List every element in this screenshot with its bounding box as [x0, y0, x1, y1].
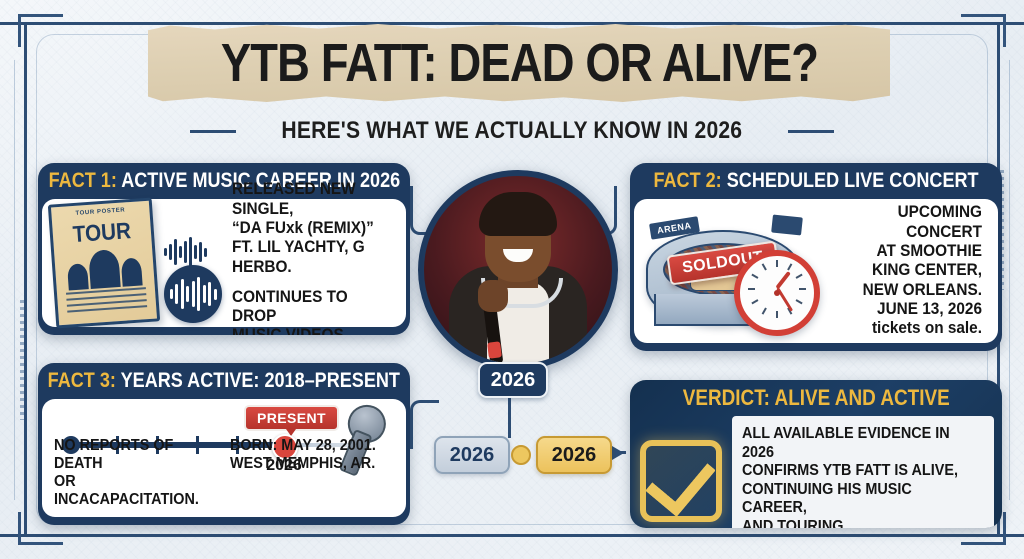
career-timeline: PRESENT 2026	[54, 405, 394, 435]
fact1-text: RELEASED NEW SINGLE, “DA FUxk (REMIX)” F…	[232, 180, 385, 335]
fact2-card: FACT 2: SCHEDULED LIVE CONCERT ARENA SOL…	[630, 163, 1002, 351]
verdict-text: ALL AVAILABLE EVIDENCE IN 2026 CONFIRMS …	[742, 425, 967, 528]
connector-gold-dot-icon	[511, 445, 531, 465]
fact2-artwork: ARENA SOLDOUT	[644, 204, 816, 338]
verdict-header: VERDICT: ALIVE AND ACTIVE	[630, 380, 1002, 416]
verdict-body: ALL AVAILABLE EVIDENCE IN 2026 CONFIRMS …	[630, 416, 1002, 528]
poster-crowd	[62, 245, 147, 291]
frame-bottom-line	[0, 534, 1024, 537]
fact1-body: TOUR POSTER TOUR RELEASED NEW SIN	[42, 199, 406, 327]
left-edge-dots	[20, 300, 24, 420]
verdict-line2: CONFIRMS YTB FATT IS ALIVE,	[742, 462, 967, 481]
fact1-line4: CONTINUES TO DROP	[232, 288, 385, 327]
fact3-card: FACT 3: YEARS ACTIVE: 2018–PRESENT PRESE…	[38, 363, 410, 525]
fact2-body: ARENA SOLDOUT	[634, 199, 998, 343]
poster-lines	[66, 287, 147, 317]
waveform-circle-icon	[164, 265, 222, 323]
connector-year-badge-gray: 2026	[434, 436, 510, 474]
subtitle-dash-right	[788, 130, 834, 133]
fact1-card: FACT 1: ACTIVE MUSIC CAREER IN 2026 TOUR…	[38, 163, 410, 335]
fact2-line4: NEW ORLEANS.	[822, 281, 982, 300]
fact3-body: PRESENT 2026 NO REPORTS OF DEATH OR INCA…	[42, 399, 406, 517]
fact2-line5: JUNE 13, 2026	[822, 300, 982, 319]
verdict-line4: AND TOURING.	[742, 518, 967, 528]
poster-title: TOUR	[57, 216, 147, 249]
fact1-artwork: TOUR POSTER TOUR	[52, 201, 232, 325]
fact2-text: UPCOMING CONCERT AT SMOOTHIE KING CENTER…	[822, 203, 982, 338]
clock-icon	[734, 250, 820, 336]
fact3-title: YEARS ACTIVE: 2018–PRESENT	[121, 369, 400, 392]
fact2-header-text: FACT 2: SCHEDULED LIVE CONCERT	[653, 169, 978, 193]
waveform-small-icon	[164, 237, 207, 267]
verdict-line3: CONTINUING HIS MUSIC CAREER,	[742, 481, 967, 518]
fact3-key: FACT 3:	[48, 369, 116, 392]
infographic-canvas: YTB FATT: DEAD OR ALIVE? HERE'S WHAT WE …	[0, 0, 1024, 559]
fact3-header: FACT 3: YEARS ACTIVE: 2018–PRESENT	[38, 363, 410, 399]
fact1-line1: RELEASED NEW SINGLE,	[232, 180, 385, 219]
verdict-card: VERDICT: ALIVE AND ACTIVE ALL AVAILABLE …	[630, 380, 1002, 528]
fact3-header-text: FACT 3: YEARS ACTIVE: 2018–PRESENT	[48, 369, 400, 393]
fact3-right-line2: WEST MEMPHIS, AR.	[230, 455, 383, 473]
verdict-text-panel: ALL AVAILABLE EVIDENCE IN 2026 CONFIRMS …	[732, 416, 994, 528]
fact2-line1: UPCOMING CONCERT	[822, 203, 982, 242]
portrait-microphone-accent	[487, 341, 502, 358]
connector-arrow-icon	[612, 446, 624, 460]
fact2-title: SCHEDULED LIVE CONCERT	[727, 169, 979, 192]
fact2-line2: AT SMOOTHIE	[822, 242, 982, 261]
connector-year-badge-gold: 2026	[536, 436, 612, 474]
center-year-badge: 2026	[478, 362, 548, 398]
fact2-header: FACT 2: SCHEDULED LIVE CONCERT	[630, 163, 1002, 199]
arena-sign-secondary	[771, 214, 803, 235]
checkmark-box-icon	[640, 440, 722, 522]
connector-center-stem	[508, 394, 514, 438]
page-subtitle: HERE'S WHAT WE ACTUALLY KNOW IN 2026	[282, 117, 743, 145]
page-title: YTB FATT: DEAD OR ALIVE?	[220, 32, 817, 94]
portrait-hair	[479, 192, 557, 236]
fact3-left-column: NO REPORTS OF DEATH OR INCACAPACITATION.	[54, 437, 218, 509]
fact2-line3: KING CENTER,	[822, 261, 982, 280]
timeline-present-badge: PRESENT	[244, 405, 339, 431]
fact2-key: FACT 2:	[653, 169, 721, 192]
verdict-line1: ALL AVAILABLE EVIDENCE IN 2026	[742, 425, 967, 462]
subtitle-dash-left	[190, 130, 236, 133]
frame-top-line	[0, 22, 1024, 25]
fact2-line6: tickets on sale.	[822, 319, 982, 338]
fact1-key: FACT 1:	[48, 169, 116, 192]
subtitle-row: HERE'S WHAT WE ACTUALLY KNOW IN 2026	[0, 114, 1024, 148]
tour-poster-icon: TOUR POSTER TOUR	[48, 198, 160, 329]
portrait-hand	[478, 280, 508, 312]
title-banner: YTB FATT: DEAD OR ALIVE?	[148, 24, 890, 102]
fact3-right-line1: BORN: MAY 28, 2001.	[230, 437, 383, 455]
fact3-left-line2: OR INCACAPACITATION.	[54, 473, 207, 509]
fact1-line5: MUSIC VIDEOS.	[232, 326, 385, 335]
fact1-line2: “DA FUxk (REMIX)”	[232, 219, 385, 238]
fact1-line3: FT. LIL YACHTY, G HERBO.	[232, 238, 385, 277]
fact3-right-text: BORN: MAY 28, 2001. WEST MEMPHIS, AR.	[230, 437, 383, 473]
portrait-figure	[424, 246, 612, 364]
fact3-left-line1: NO REPORTS OF DEATH	[54, 437, 207, 473]
artist-portrait	[418, 170, 618, 370]
fact3-left-text: NO REPORTS OF DEATH OR INCACAPACITATION.	[54, 437, 207, 509]
verdict-title: VERDICT: ALIVE AND ACTIVE	[682, 385, 949, 411]
frame-left-line	[24, 22, 27, 537]
